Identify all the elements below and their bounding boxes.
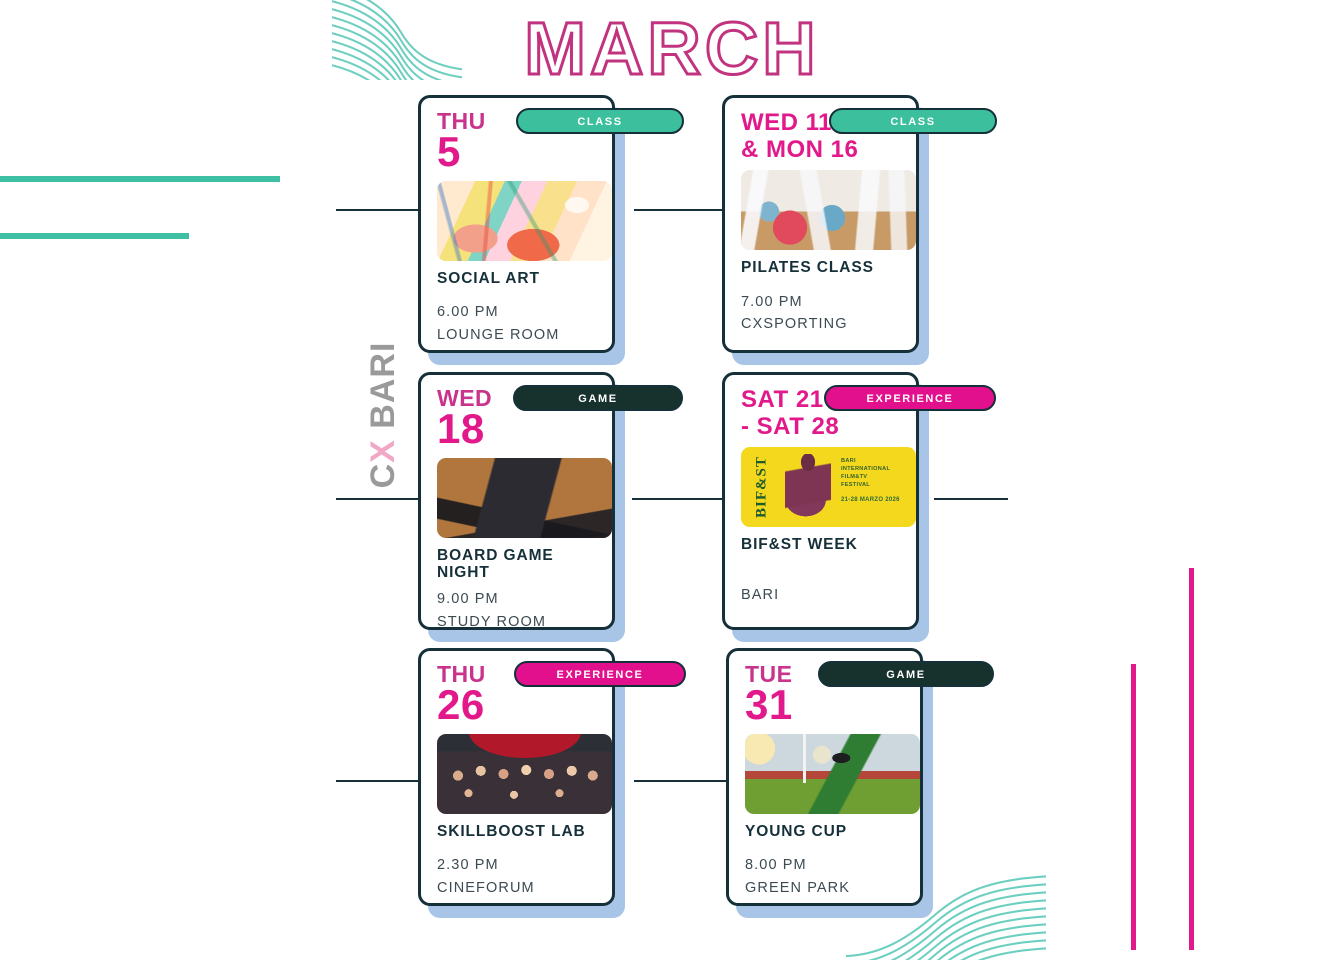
pink-accent-bar-right-inner bbox=[1131, 664, 1136, 950]
event-title: BIF&ST WEEK bbox=[741, 536, 900, 554]
connector-line bbox=[934, 498, 1008, 500]
badge-experience[interactable]: EXPERIENCE bbox=[514, 661, 686, 687]
brand-label-cx-bari: CX BARI bbox=[364, 335, 404, 495]
skillboost-photo bbox=[437, 734, 612, 814]
event-title: SKILLBOOST LAB bbox=[437, 823, 596, 841]
event-location: LOUNGE ROOM bbox=[437, 324, 596, 346]
event-title: SOCIAL ART bbox=[437, 270, 596, 288]
teal-accent-bar-top bbox=[0, 176, 280, 182]
event-card-skillboost-lab[interactable]: THU 26 SKILLBOOST LAB 2.30 PM CINEFORUM … bbox=[418, 648, 615, 906]
bifest-figure bbox=[785, 454, 831, 522]
event-time: 2.30 PM bbox=[437, 854, 596, 876]
event-meta: 7.00 PM CXSPORTING bbox=[741, 291, 900, 336]
brand-c: C bbox=[364, 463, 402, 489]
event-location: STUDY ROOM bbox=[437, 611, 596, 633]
event-location: GREEN PARK bbox=[745, 877, 904, 899]
event-meta: 2.30 PM CINEFORUM bbox=[437, 854, 596, 899]
event-day-number: 31 bbox=[745, 684, 904, 725]
badge-class[interactable]: CLASS bbox=[829, 108, 997, 134]
young-cup-photo bbox=[745, 734, 920, 814]
event-title: BOARD GAME NIGHT bbox=[437, 547, 596, 583]
page-title: MARCH bbox=[0, 6, 1344, 91]
board-game-photo bbox=[437, 458, 612, 538]
bifest-poster-text: BARI INTERNATIONAL FILM&TV FESTIVAL 21-2… bbox=[841, 457, 907, 505]
badge-game[interactable]: GAME bbox=[818, 661, 994, 687]
poster-line-4: FESTIVAL bbox=[841, 481, 907, 489]
pilates-photo bbox=[741, 170, 916, 250]
event-time: 8.00 PM bbox=[745, 854, 904, 876]
event-card-bifest-week[interactable]: SAT 21 - SAT 28 BIF&ST BARI INTERNATIONA… bbox=[722, 372, 919, 630]
poster-line-3: FILM&TV bbox=[841, 473, 907, 481]
event-card-pilates-class[interactable]: WED 11 & MON 16 PILATES CLASS 7.00 PM CX… bbox=[722, 95, 919, 353]
teal-accent-bar-bottom bbox=[0, 233, 189, 239]
event-meta: BARI bbox=[741, 584, 900, 606]
event-day-number: 26 bbox=[437, 684, 596, 725]
event-day-number: 18 bbox=[437, 408, 596, 449]
bifest-poster: BIF&ST BARI INTERNATIONAL FILM&TV FESTIV… bbox=[741, 447, 916, 527]
badge-game[interactable]: GAME bbox=[513, 385, 683, 411]
event-time: 9.00 PM bbox=[437, 588, 596, 610]
poster-dates: 21-28 MARZO 2026 bbox=[841, 496, 907, 505]
badge-class[interactable]: CLASS bbox=[516, 108, 684, 134]
connector-line bbox=[336, 780, 420, 782]
social-art-photo bbox=[437, 181, 612, 261]
connector-line bbox=[632, 498, 724, 500]
event-location: CXSPORTING bbox=[741, 313, 900, 335]
event-meta: 6.00 PM LOUNGE ROOM bbox=[437, 301, 596, 346]
event-date-line-2: & MON 16 bbox=[741, 137, 900, 164]
event-card-social-art[interactable]: THU 5 SOCIAL ART 6.00 PM LOUNGE ROOM CLA… bbox=[418, 95, 615, 353]
event-date-line-2: - SAT 28 bbox=[741, 414, 900, 441]
poster-line-1: BARI bbox=[841, 457, 907, 465]
brand-city: BARI bbox=[364, 342, 402, 429]
event-title: YOUNG CUP bbox=[745, 823, 904, 841]
badge-experience[interactable]: EXPERIENCE bbox=[824, 385, 996, 411]
poster-line-2: INTERNATIONAL bbox=[841, 465, 907, 473]
event-card-young-cup[interactable]: TUE 31 YOUNG CUP 8.00 PM GREEN PARK GAME bbox=[726, 648, 923, 906]
event-day-number: 5 bbox=[437, 131, 596, 172]
event-card-board-game-night[interactable]: WED 18 BOARD GAME NIGHT 9.00 PM STUDY RO… bbox=[418, 372, 615, 630]
event-location: CINEFORUM bbox=[437, 877, 596, 899]
event-meta: 9.00 PM STUDY ROOM bbox=[437, 588, 596, 633]
connector-line bbox=[634, 209, 726, 211]
event-title: PILATES CLASS bbox=[741, 259, 900, 277]
event-meta: 8.00 PM GREEN PARK bbox=[745, 854, 904, 899]
connector-line bbox=[336, 498, 420, 500]
pink-accent-bar-right-outer bbox=[1189, 568, 1194, 950]
brand-x: X bbox=[364, 439, 402, 463]
event-time: 7.00 PM bbox=[741, 291, 900, 313]
event-time: 6.00 PM bbox=[437, 301, 596, 323]
connector-line bbox=[634, 780, 726, 782]
connector-line bbox=[336, 209, 420, 211]
bifest-logo: BIF&ST bbox=[747, 453, 777, 521]
event-location: BARI bbox=[741, 584, 900, 606]
